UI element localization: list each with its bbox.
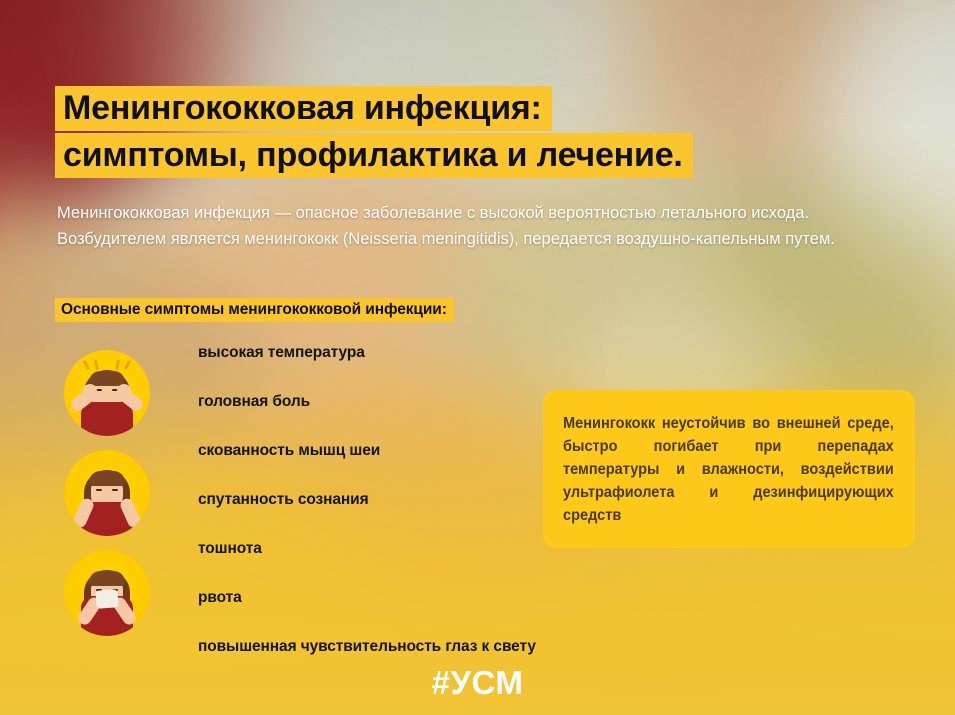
eye-shape bbox=[112, 489, 118, 491]
fringe-shape bbox=[89, 571, 125, 586]
symptom-item: высокая температура bbox=[198, 342, 668, 391]
person-figure bbox=[64, 450, 150, 536]
symptoms-subheading: Основные симптомы менингококковой инфекц… bbox=[55, 298, 454, 322]
fringe-shape bbox=[89, 371, 125, 386]
person-headache-icon bbox=[64, 350, 150, 436]
hand-shape bbox=[83, 384, 97, 400]
hand-shape bbox=[117, 384, 131, 400]
symptom-illustrations bbox=[64, 350, 156, 636]
pain-ray-icon bbox=[115, 360, 120, 370]
fact-callout-box: Менингококк неустойчив во внешней среде,… bbox=[543, 390, 915, 548]
person-standing-icon bbox=[64, 450, 150, 536]
hashtag-logo: #УСМ bbox=[432, 664, 524, 701]
page-title: Менингококковая инфекция: симптомы, проф… bbox=[55, 86, 693, 178]
person-figure bbox=[64, 350, 150, 436]
lead-paragraph: Менингококковая инфекция — опасное забол… bbox=[57, 201, 887, 252]
tissue-shape bbox=[95, 589, 118, 608]
pain-ray-icon bbox=[124, 360, 131, 370]
person-nausea-icon bbox=[64, 550, 150, 636]
symptom-item: рвота bbox=[198, 587, 668, 636]
symptom-item: повышенная чувствительность глаз к свету bbox=[198, 636, 668, 657]
fact-callout-text: Менингококк неустойчив во внешней среде,… bbox=[563, 412, 894, 527]
infographic-poster: Менингококковая инфекция: симптомы, проф… bbox=[0, 0, 955, 715]
title-line-2: симптомы, профилактика и лечение. bbox=[55, 133, 693, 178]
pain-ray-icon bbox=[83, 360, 90, 370]
fringe-shape bbox=[89, 471, 125, 486]
eye-shape bbox=[96, 489, 102, 491]
torso-shape bbox=[81, 402, 133, 436]
symptoms-subheading-text: Основные симптомы менингококковой инфекц… bbox=[55, 298, 454, 322]
title-line-1: Менингококковая инфекция: bbox=[55, 86, 552, 131]
pain-ray-icon bbox=[94, 360, 99, 370]
person-figure bbox=[64, 550, 150, 636]
footer: #УСМ bbox=[0, 664, 955, 702]
poster-content: Менингококковая инфекция: симптомы, проф… bbox=[0, 0, 955, 715]
